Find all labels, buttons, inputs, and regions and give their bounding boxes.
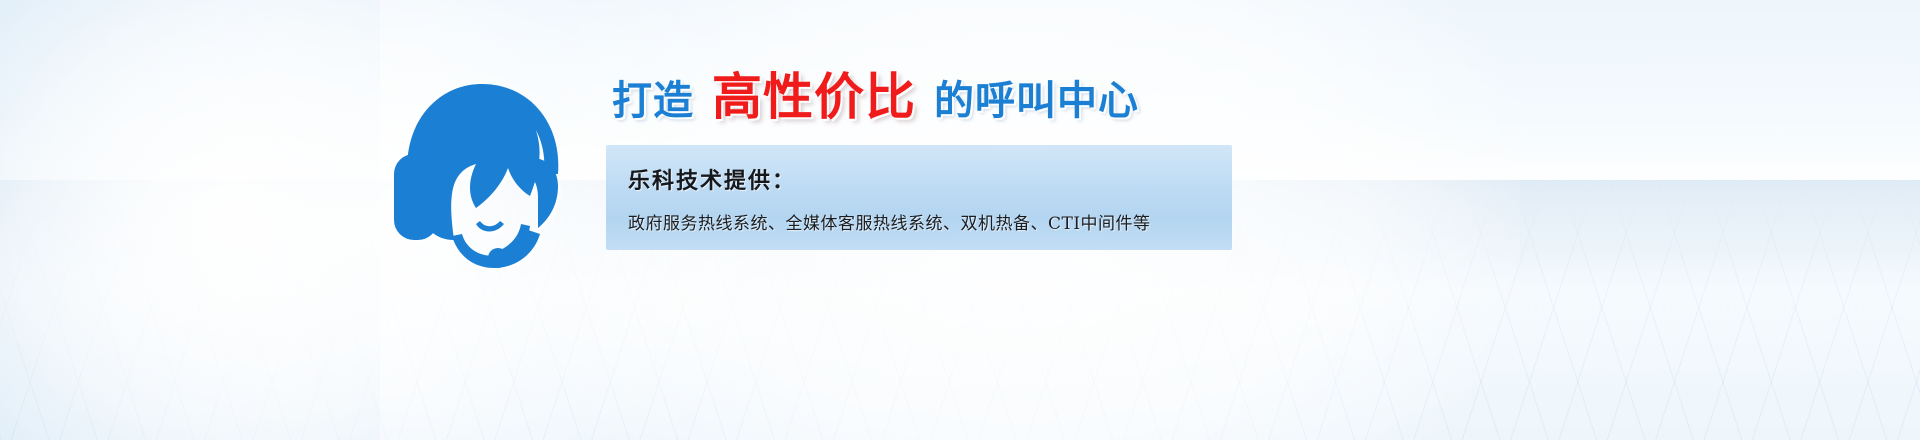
headline: 打造 高性价比 的呼叫中心 [612, 72, 1139, 122]
info-box: 乐科技术提供： 政府服务热线系统、全媒体客服热线系统、双机热备、CTI中间件等 [606, 145, 1232, 250]
info-box-title: 乐科技术提供： [628, 163, 1232, 195]
info-box-description: 政府服务热线系统、全媒体客服热线系统、双机热备、CTI中间件等 [628, 209, 1232, 234]
promo-banner: 打造 高性价比 的呼叫中心 乐科技术提供： 政府服务热线系统、全媒体客服热线系统… [0, 0, 1920, 440]
headline-part-1: 打造 [612, 81, 694, 121]
headline-part-3: 的呼叫中心 [934, 81, 1139, 121]
background-edge-left [0, 0, 260, 440]
headset-operator-icon [372, 58, 588, 274]
background-edge-right [0, 0, 380, 440]
headline-part-2-highlight: 高性价比 [712, 72, 916, 122]
